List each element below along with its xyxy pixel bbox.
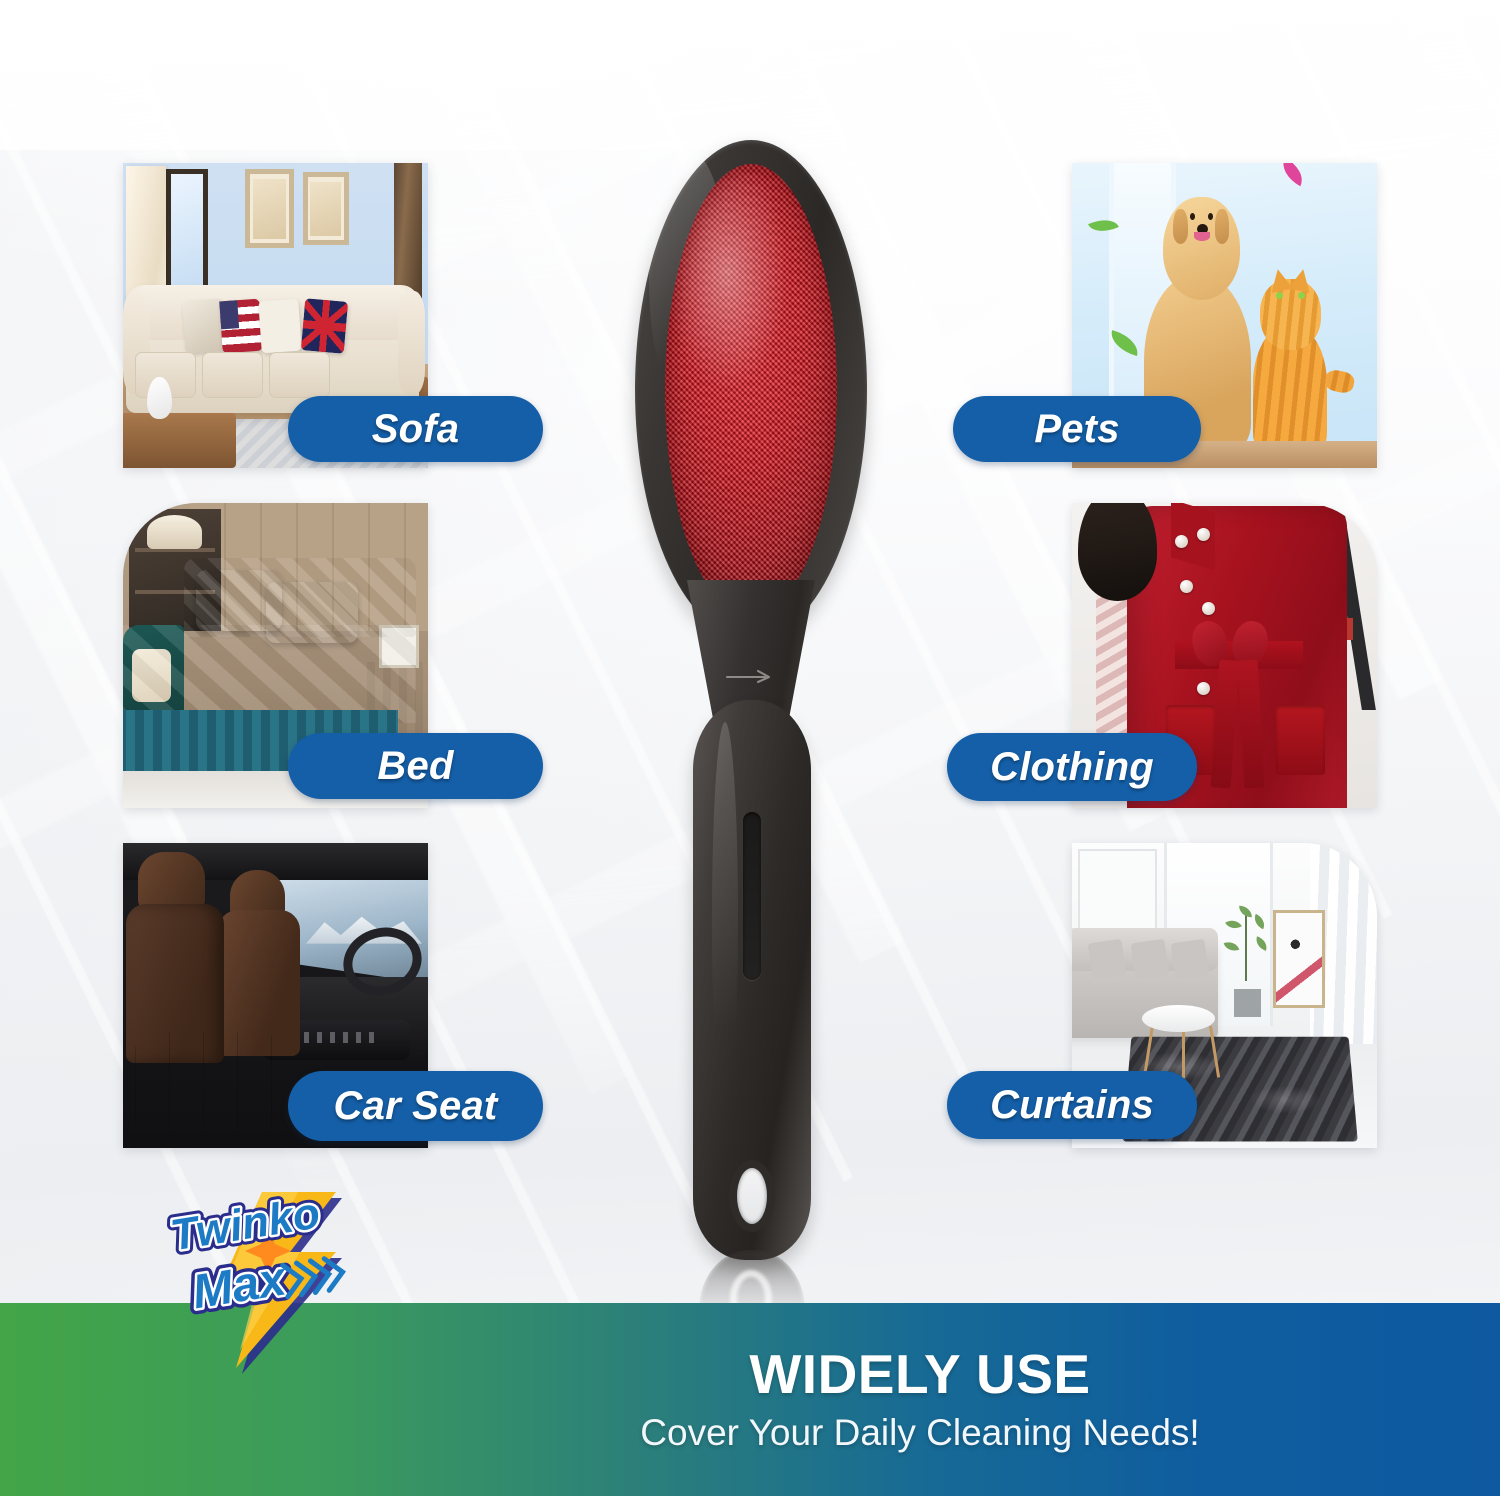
- label-pill-pets[interactable]: Pets: [953, 396, 1201, 462]
- label-pill-car-seat[interactable]: Car Seat: [288, 1071, 543, 1141]
- handle-hang-hole: [729, 1160, 775, 1232]
- product-lint-brush: [613, 140, 888, 1250]
- brush-head: [635, 140, 867, 640]
- label-pill-bed[interactable]: Bed: [288, 733, 543, 799]
- cat-illustration: [1243, 279, 1341, 456]
- brush-red-fabric-pad: [665, 164, 837, 616]
- direction-arrow-icon: [725, 667, 777, 683]
- brush-handle: [693, 700, 811, 1260]
- banner-subtitle: Cover Your Daily Cleaning Needs!: [640, 1412, 1199, 1453]
- banner-title: WIDELY USE: [749, 1346, 1090, 1402]
- label-pill-clothing[interactable]: Clothing: [947, 733, 1197, 801]
- label-pill-sofa[interactable]: Sofa: [288, 396, 543, 462]
- handle-slot: [743, 812, 761, 980]
- infographic-stage: Sofa Bed Car Seat Pets Clothing Curtains…: [0, 0, 1500, 1496]
- label-pill-curtains[interactable]: Curtains: [947, 1071, 1197, 1139]
- brand-logo-twinko-max: Twinko Twinko Twinko Max Max Max: [140, 1190, 390, 1370]
